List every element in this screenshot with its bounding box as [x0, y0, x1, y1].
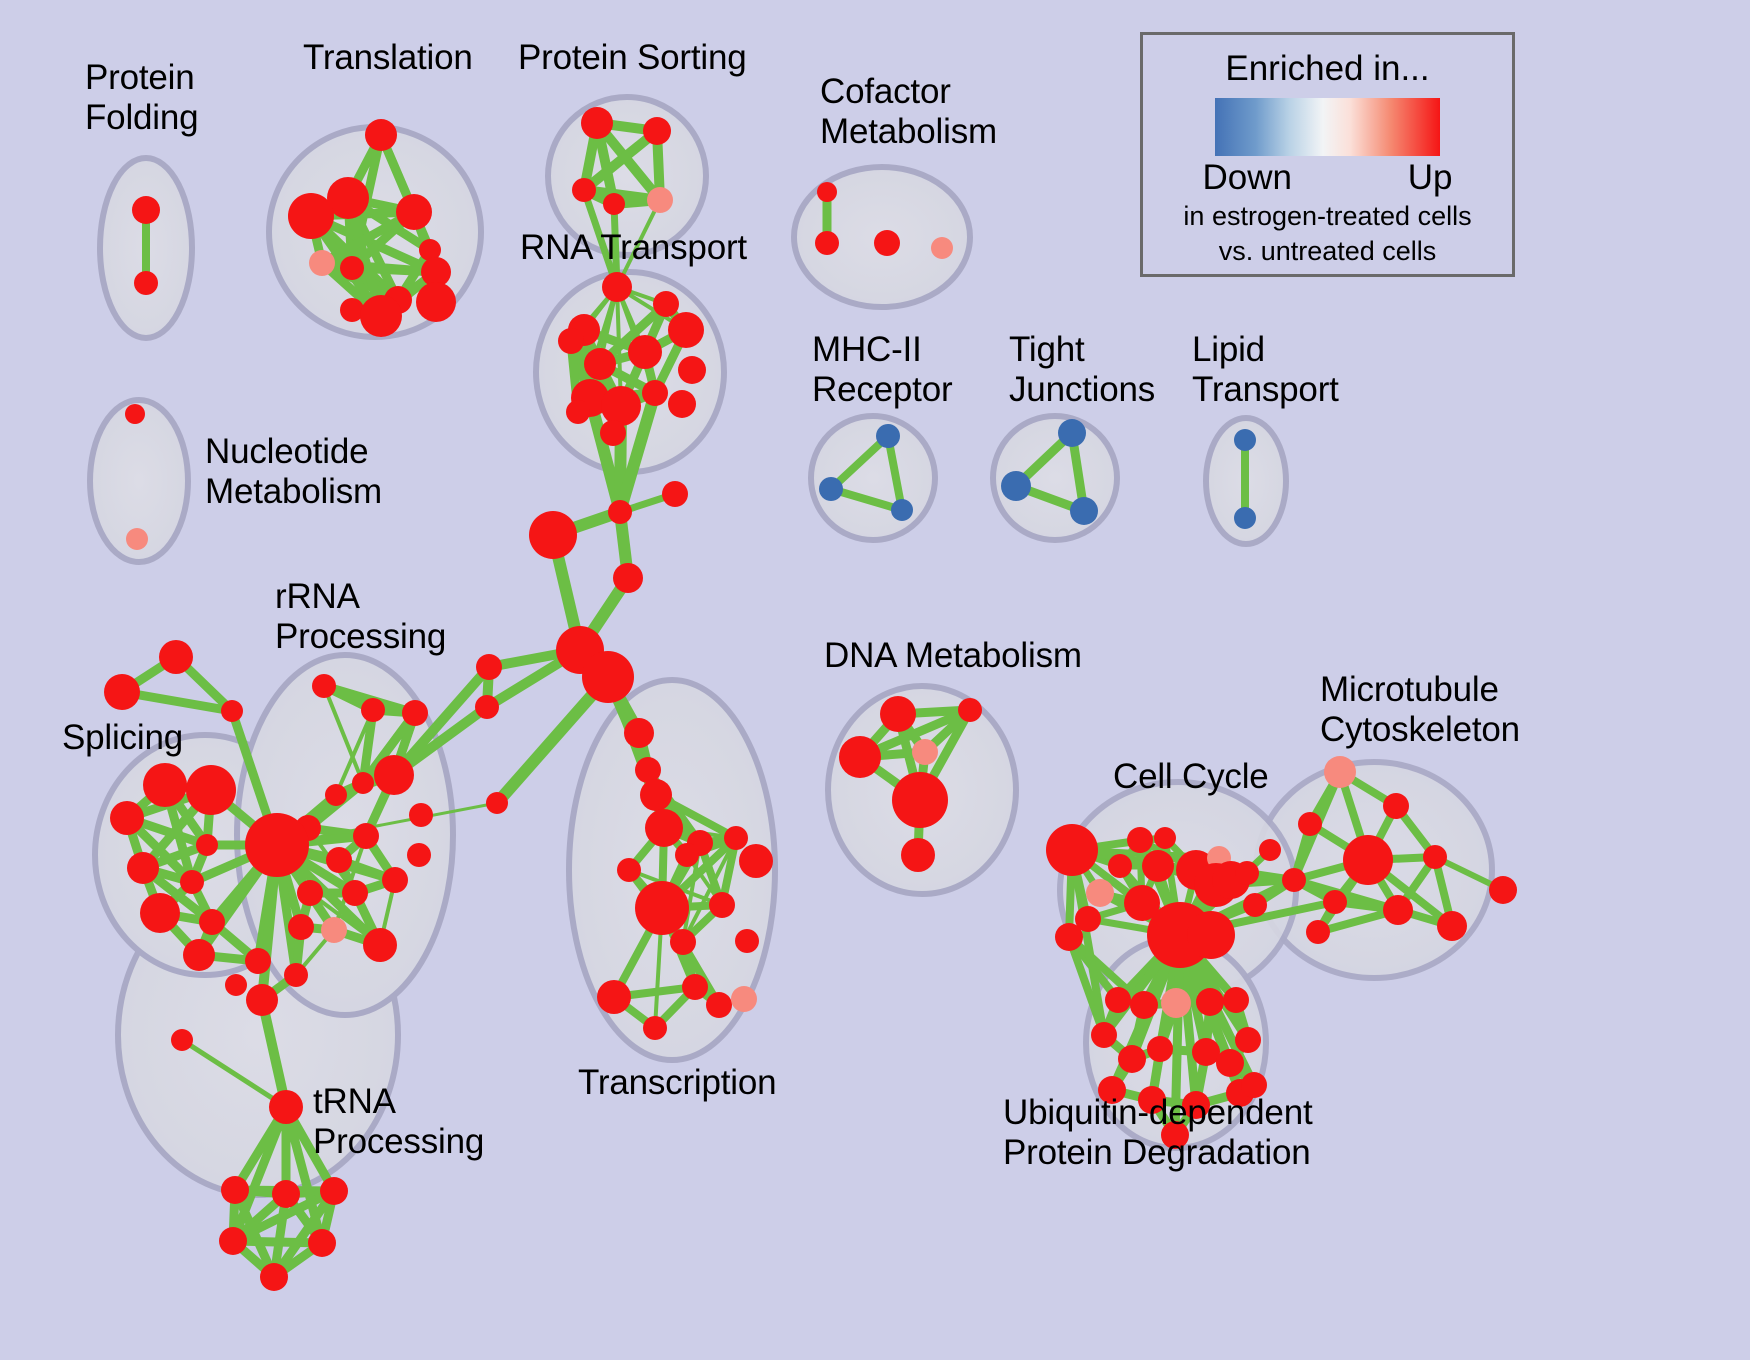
legend-panel: Enriched in... Down Up in estrogen-treat… [1140, 32, 1515, 277]
legend-label-down: Down [1203, 158, 1292, 198]
cluster-label-protein-folding: Protein Folding [85, 58, 198, 138]
cluster-label-nucleotide-metabolism: Nucleotide Metabolism [205, 432, 382, 512]
cluster-label-tight-junctions: Tight Junctions [1009, 330, 1155, 410]
cluster-label-rrna-processing: rRNA Processing [275, 577, 446, 657]
legend-subtitle-line-1: in estrogen-treated cells [1183, 200, 1471, 233]
cluster-label-mhc-ii-receptor: MHC-II Receptor [812, 330, 952, 410]
legend-subtitle-line-2: vs. untreated cells [1219, 235, 1437, 268]
cluster-label-microtubule-cytoskeleton: Microtubule Cytoskeleton [1320, 670, 1520, 750]
cluster-label-cofactor-metabolism: Cofactor Metabolism [820, 72, 997, 152]
cluster-label-protein-sorting: Protein Sorting [518, 38, 747, 78]
legend-endpoint-labels: Down Up [1203, 158, 1453, 198]
legend-label-up: Up [1408, 158, 1453, 198]
cluster-label-ubiquitin-protein-degradation: Ubiquitin-dependent Protein Degradation [1003, 1093, 1313, 1173]
cluster-label-trna-processing: tRNA Processing [313, 1082, 484, 1162]
legend-color-gradient-bar [1215, 98, 1440, 156]
cluster-label-translation: Translation [303, 38, 473, 78]
cluster-label-lipid-transport: Lipid Transport [1192, 330, 1339, 410]
cluster-label-rna-transport: RNA Transport [520, 228, 747, 268]
cluster-label-cell-cycle: Cell Cycle [1113, 757, 1269, 797]
legend-title: Enriched in... [1225, 49, 1429, 89]
cluster-label-dna-metabolism: DNA Metabolism [824, 636, 1082, 676]
enrichment-map-figure: Protein Folding Translation Protein Sort… [0, 0, 1750, 1360]
cluster-label-splicing: Splicing [62, 718, 183, 758]
cluster-label-transcription: Transcription [578, 1063, 776, 1103]
